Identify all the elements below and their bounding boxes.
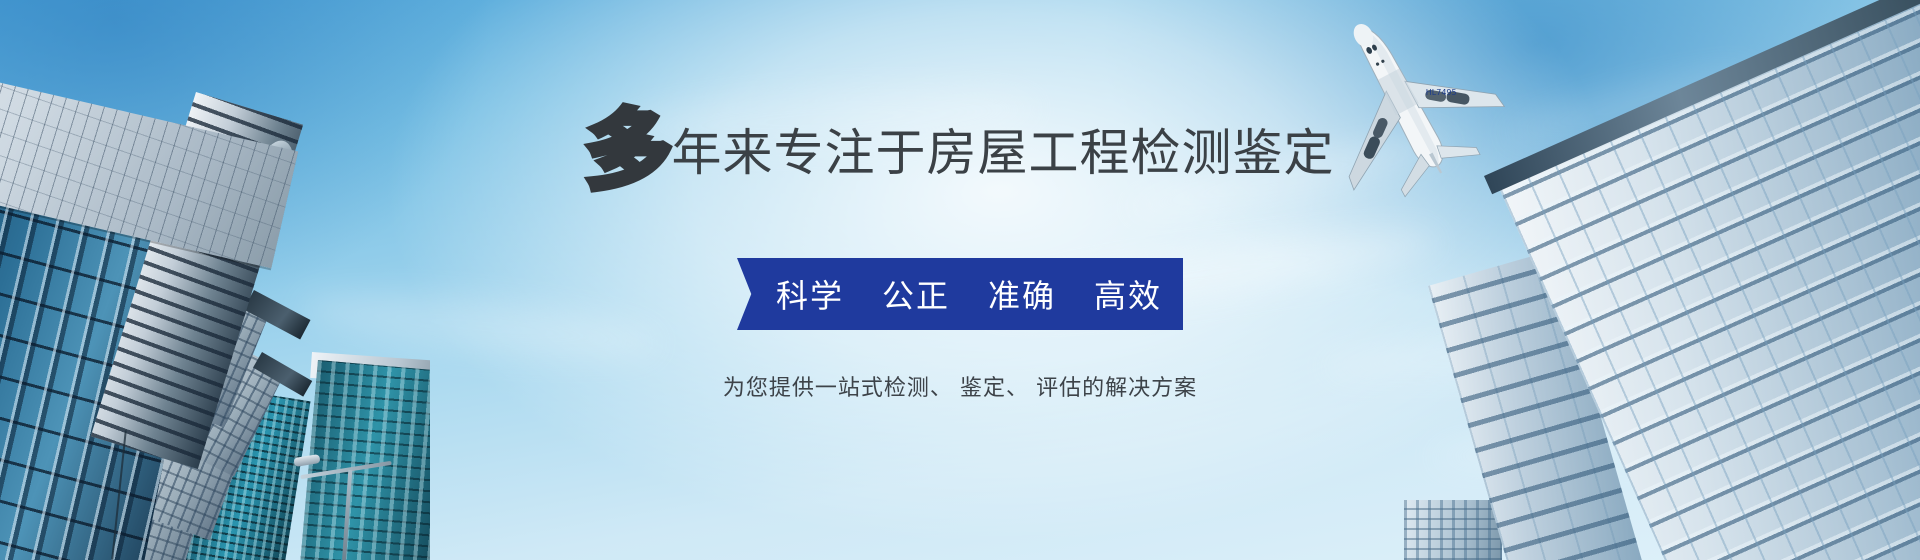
svg-text:HL7495: HL7495 bbox=[1426, 88, 1457, 97]
airplane-icon: HL7495 bbox=[1300, 10, 1510, 200]
background-low-building bbox=[1404, 500, 1502, 560]
hero-banner: HL7495 多 年来专注于房屋工程检测鉴定 科学 公正 准确 高效 为您提供一… bbox=[0, 0, 1920, 560]
left-skyscraper-photo bbox=[0, 0, 430, 560]
